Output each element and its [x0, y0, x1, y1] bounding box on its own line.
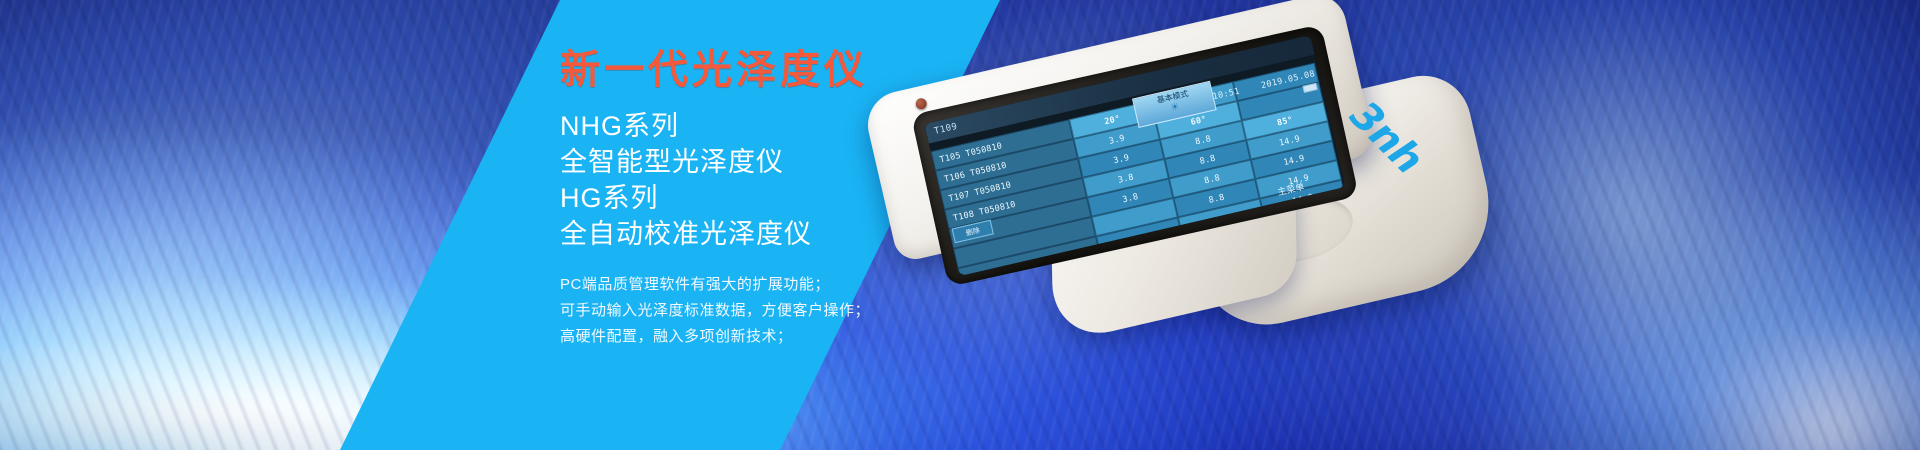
product-banner: 新一代光泽度仪 NHG系列 全智能型光泽度仪 HG系列 全自动校准光泽度仪 PC… [0, 0, 1920, 450]
